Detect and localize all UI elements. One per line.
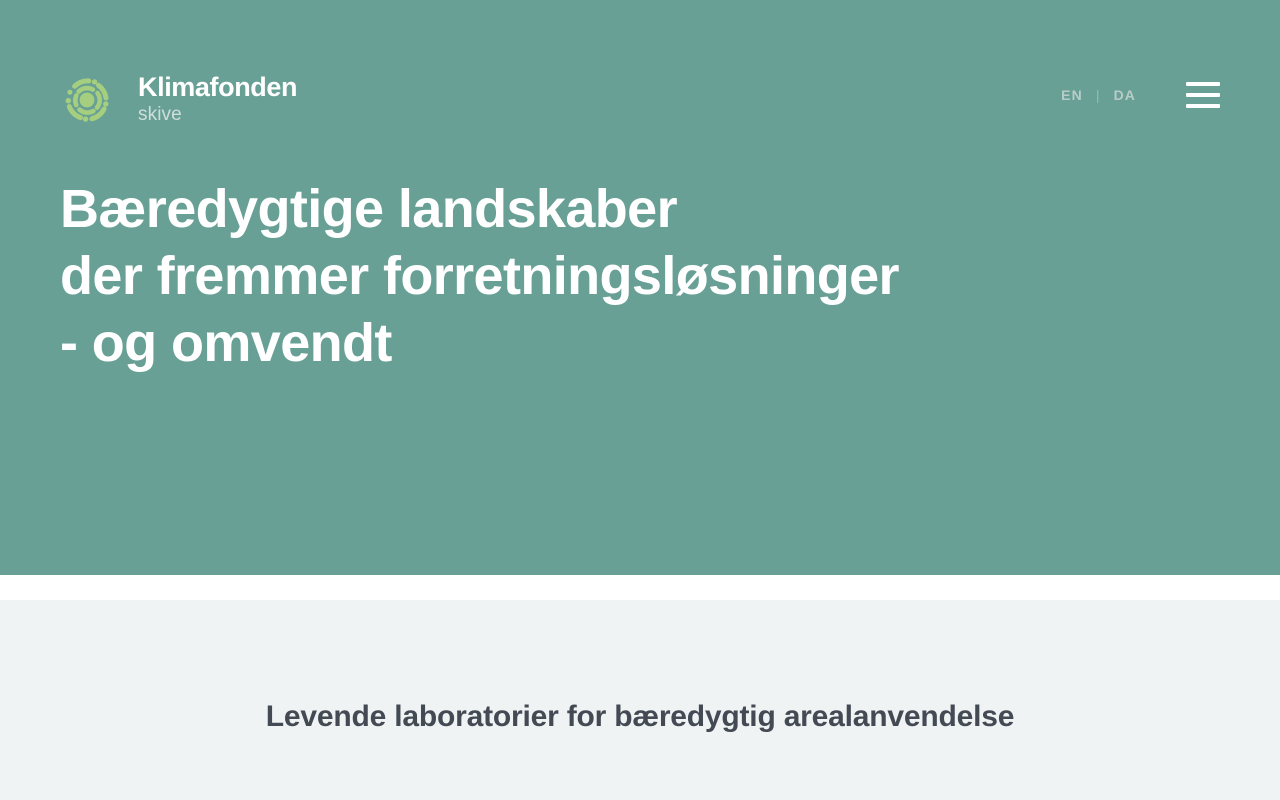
burger-bar-top <box>1186 82 1220 86</box>
lang-option-da[interactable]: DA <box>1114 87 1136 103</box>
hero-title: Bæredygtige landskaber der fremmer forre… <box>60 176 899 377</box>
section-heading: Levende laboratorier for bæredygtig area… <box>266 698 1014 736</box>
hero-title-line-1: Bæredygtige landskaber <box>60 176 899 243</box>
section-divider <box>0 575 1280 600</box>
logo-wordmark: Klimafonden skive <box>138 73 297 127</box>
language-switcher: EN | DA <box>1061 87 1136 103</box>
circular-segments-logo-icon <box>60 73 114 127</box>
living-labs-section: Levende laboratorier for bæredygtig area… <box>0 600 1280 800</box>
lang-separator: | <box>1096 87 1101 103</box>
hero-title-line-2: der fremmer forretningsløsninger <box>60 243 899 310</box>
hero-title-line-3: - og omvendt <box>60 310 899 377</box>
burger-bar-bottom <box>1186 104 1220 108</box>
lang-option-en[interactable]: EN <box>1061 87 1083 103</box>
header-actions: EN | DA <box>1061 82 1220 108</box>
logo-subtitle: skive <box>138 103 297 127</box>
hamburger-menu-icon[interactable] <box>1186 82 1220 108</box>
logo-name: Klimafonden <box>138 73 297 102</box>
hero-section: Klimafonden skive EN | DA Bæredygtige la… <box>0 0 1280 575</box>
site-header-nav: Klimafonden skive EN | DA <box>0 0 1280 192</box>
logo-link[interactable]: Klimafonden skive <box>60 73 297 127</box>
burger-bar-middle <box>1186 93 1220 97</box>
